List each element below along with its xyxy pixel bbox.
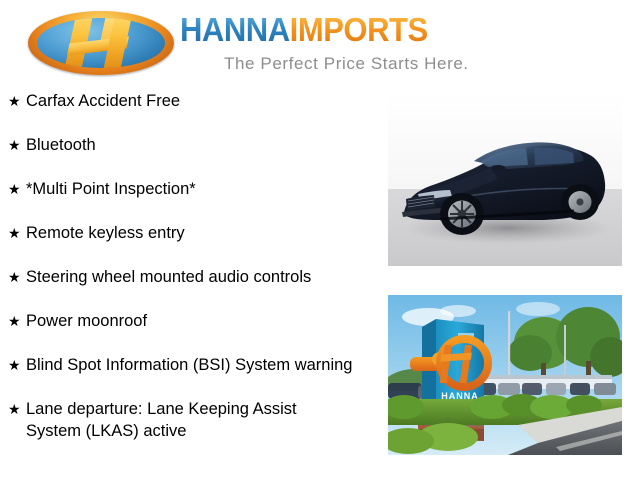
star-bullet-icon: ★ [8, 354, 26, 376]
feature-label: Remote keyless entry [26, 222, 185, 244]
feature-label: Bluetooth [26, 134, 96, 156]
feature-label: Blind Spot Information (BSI) System warn… [26, 354, 352, 376]
hanna-oval-emblem-icon [28, 11, 174, 75]
dealership-photo-graphic: HANNA IMPORTS [388, 295, 622, 455]
wordmark-imports: IMPORTS [290, 11, 428, 48]
feature-label: Power moonroof [26, 310, 147, 332]
feature-label: Lane departure: Lane Keeping Assist Syst… [26, 398, 356, 442]
vehicle-photo [388, 93, 622, 266]
brand-header: HANNAIMPORTS The Perfect Price Starts He… [0, 0, 640, 88]
brand-tagline: The Perfect Price Starts Here. [224, 54, 469, 74]
feature-label: Steering wheel mounted audio controls [26, 266, 311, 288]
star-bullet-icon: ★ [8, 134, 26, 156]
list-item: ★ Lane departure: Lane Keeping Assist Sy… [0, 398, 380, 442]
list-item: ★ *Multi Point Inspection* [0, 178, 380, 200]
brand-wordmark: HANNAIMPORTS [180, 13, 428, 46]
star-bullet-icon: ★ [8, 310, 26, 332]
list-item: ★ Remote keyless entry [0, 222, 380, 244]
vehicle-photo-graphic [388, 93, 622, 266]
list-item: ★ Bluetooth [0, 134, 380, 156]
dealership-photo: HANNA IMPORTS [388, 295, 622, 455]
list-item: ★ Blind Spot Information (BSI) System wa… [0, 354, 380, 376]
star-bullet-icon: ★ [8, 178, 26, 200]
emblem-inner-disc [37, 18, 165, 68]
star-bullet-icon: ★ [8, 266, 26, 288]
list-item: ★ Power moonroof [0, 310, 380, 332]
star-bullet-icon: ★ [8, 222, 26, 244]
brand-logo: HANNAIMPORTS The Perfect Price Starts He… [28, 6, 528, 82]
wordmark-hanna: HANNA [180, 11, 290, 48]
star-bullet-icon: ★ [8, 398, 26, 420]
vehicle-features-list: ★ Carfax Accident Free ★ Bluetooth ★ *Mu… [0, 90, 380, 464]
list-item: ★ Carfax Accident Free [0, 90, 380, 112]
feature-label: *Multi Point Inspection* [26, 178, 196, 200]
list-item: ★ Steering wheel mounted audio controls [0, 266, 380, 288]
star-bullet-icon: ★ [8, 90, 26, 112]
feature-label: Carfax Accident Free [26, 90, 180, 112]
